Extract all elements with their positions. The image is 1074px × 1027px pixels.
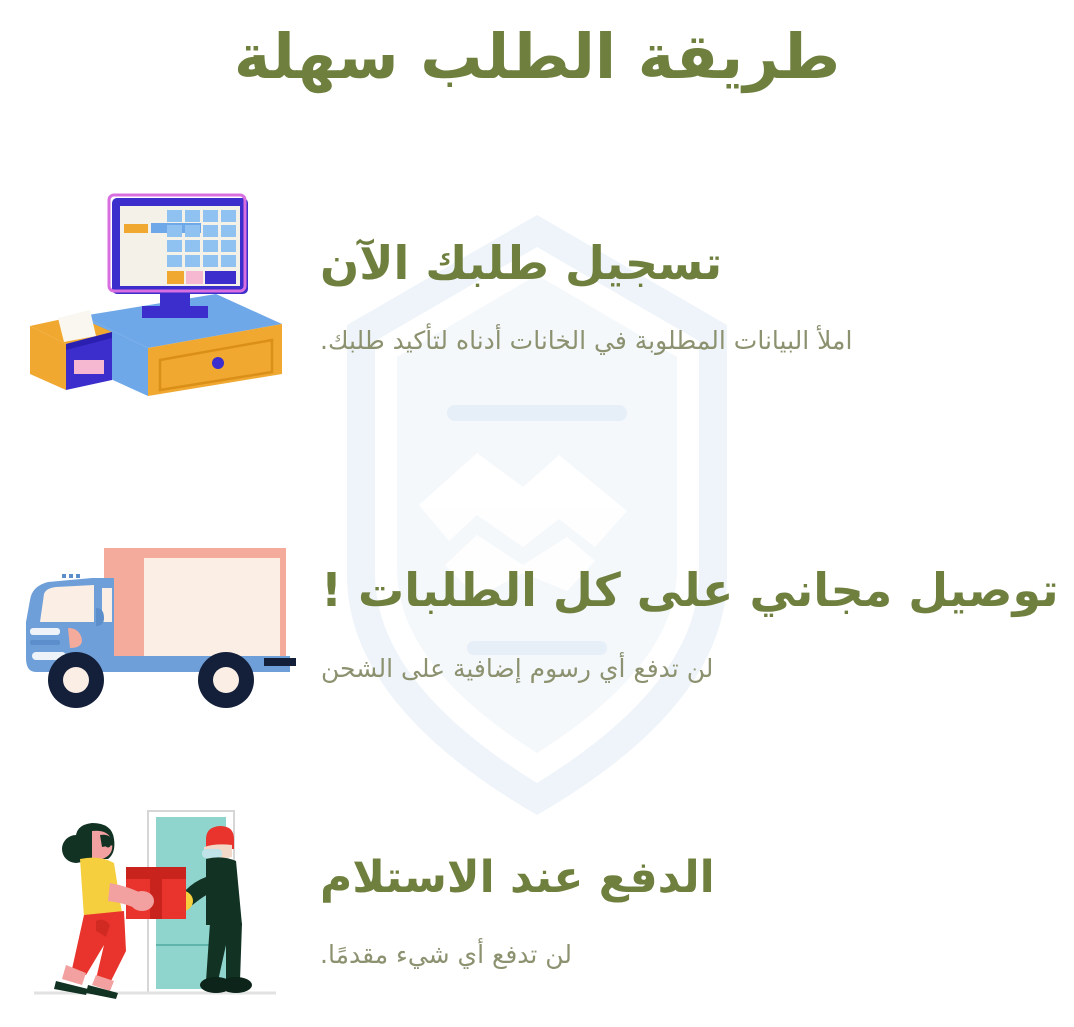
feature-subtitle-payment: لن تدفع أي شيء مقدمًا. bbox=[320, 937, 1074, 972]
feature-text-order: تسجيل طلبك الآن املأ البيانات المطلوبة ف… bbox=[290, 237, 1074, 359]
page-title: طريقة الطلب سهلة bbox=[0, 0, 1074, 115]
feature-subtitle-order: املأ البيانات المطلوبة في الخانات أدناه … bbox=[320, 323, 1074, 358]
feature-section-order: تسجيل طلبك الآن املأ البيانات المطلوبة ف… bbox=[0, 185, 1074, 410]
delivery-truck-icon bbox=[18, 530, 303, 720]
feature-subtitle-shipping: لن تدفع أي رسوم إضافية على الشحن bbox=[321, 651, 1074, 686]
feature-heading-payment: الدفع عند الاستلام bbox=[320, 853, 1074, 904]
feature-heading-shipping: توصيل مجاني على كل الطلبات ! bbox=[321, 564, 1074, 617]
page-title-text: طريقة الطلب سهلة bbox=[234, 23, 840, 91]
cash-on-delivery-icon bbox=[30, 805, 280, 1020]
feature-text-payment: الدفع عند الاستلام لن تدفع أي شيء مقدمًا… bbox=[280, 853, 1074, 973]
desktop-computer-icon bbox=[20, 190, 290, 405]
feature-heading-order: تسجيل طلبك الآن bbox=[320, 237, 1074, 290]
feature-section-payment: الدفع عند الاستلام لن تدفع أي شيء مقدمًا… bbox=[0, 805, 1074, 1020]
feature-text-shipping: توصيل مجاني على كل الطلبات ! لن تدفع أي … bbox=[303, 564, 1074, 686]
feature-section-shipping: توصيل مجاني على كل الطلبات ! لن تدفع أي … bbox=[0, 525, 1074, 725]
